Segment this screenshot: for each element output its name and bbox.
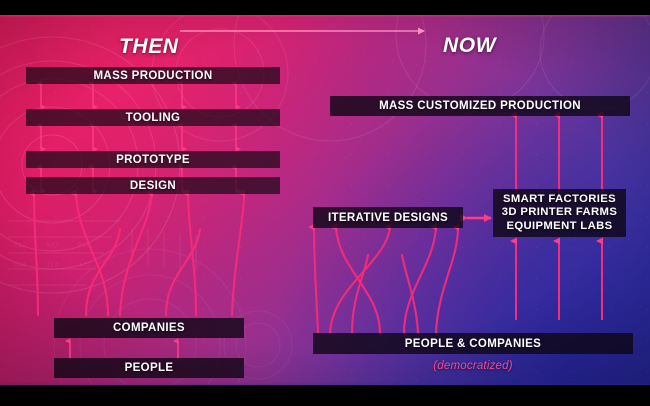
- smart-factories-line-3: EQUIPMENT LABS: [507, 220, 613, 233]
- box-iterative-designs[interactable]: ITERATIVE DESIGNS: [313, 207, 463, 228]
- box-companies[interactable]: COMPANIES: [54, 318, 244, 338]
- letterbox-top: [0, 0, 650, 15]
- video-frame: 012 037 065 088 114 142: [0, 15, 650, 385]
- box-mass-customized-production[interactable]: MASS CUSTOMIZED PRODUCTION: [330, 96, 630, 116]
- letterbox-bottom: [0, 385, 650, 406]
- democratized-caption: (democratized): [313, 360, 633, 372]
- smart-factories-line-1: SMART FACTORIES: [503, 193, 616, 206]
- box-mass-production[interactable]: MASS PRODUCTION: [26, 67, 280, 84]
- slide-canvas: 012 037 065 088 114 142: [0, 0, 650, 406]
- box-tooling[interactable]: TOOLING: [26, 109, 280, 126]
- now-heading: NOW: [443, 34, 496, 58]
- box-smart-factories[interactable]: SMART FACTORIES 3D PRINTER FARMS EQUIPME…: [493, 189, 626, 237]
- box-people-and-companies[interactable]: PEOPLE & COMPANIES: [313, 333, 633, 354]
- box-design[interactable]: DESIGN: [26, 177, 280, 194]
- then-heading: THEN: [119, 35, 179, 59]
- smart-factories-line-2: 3D PRINTER FARMS: [502, 206, 617, 219]
- box-people[interactable]: PEOPLE: [54, 358, 244, 378]
- box-prototype[interactable]: PROTOTYPE: [26, 151, 280, 168]
